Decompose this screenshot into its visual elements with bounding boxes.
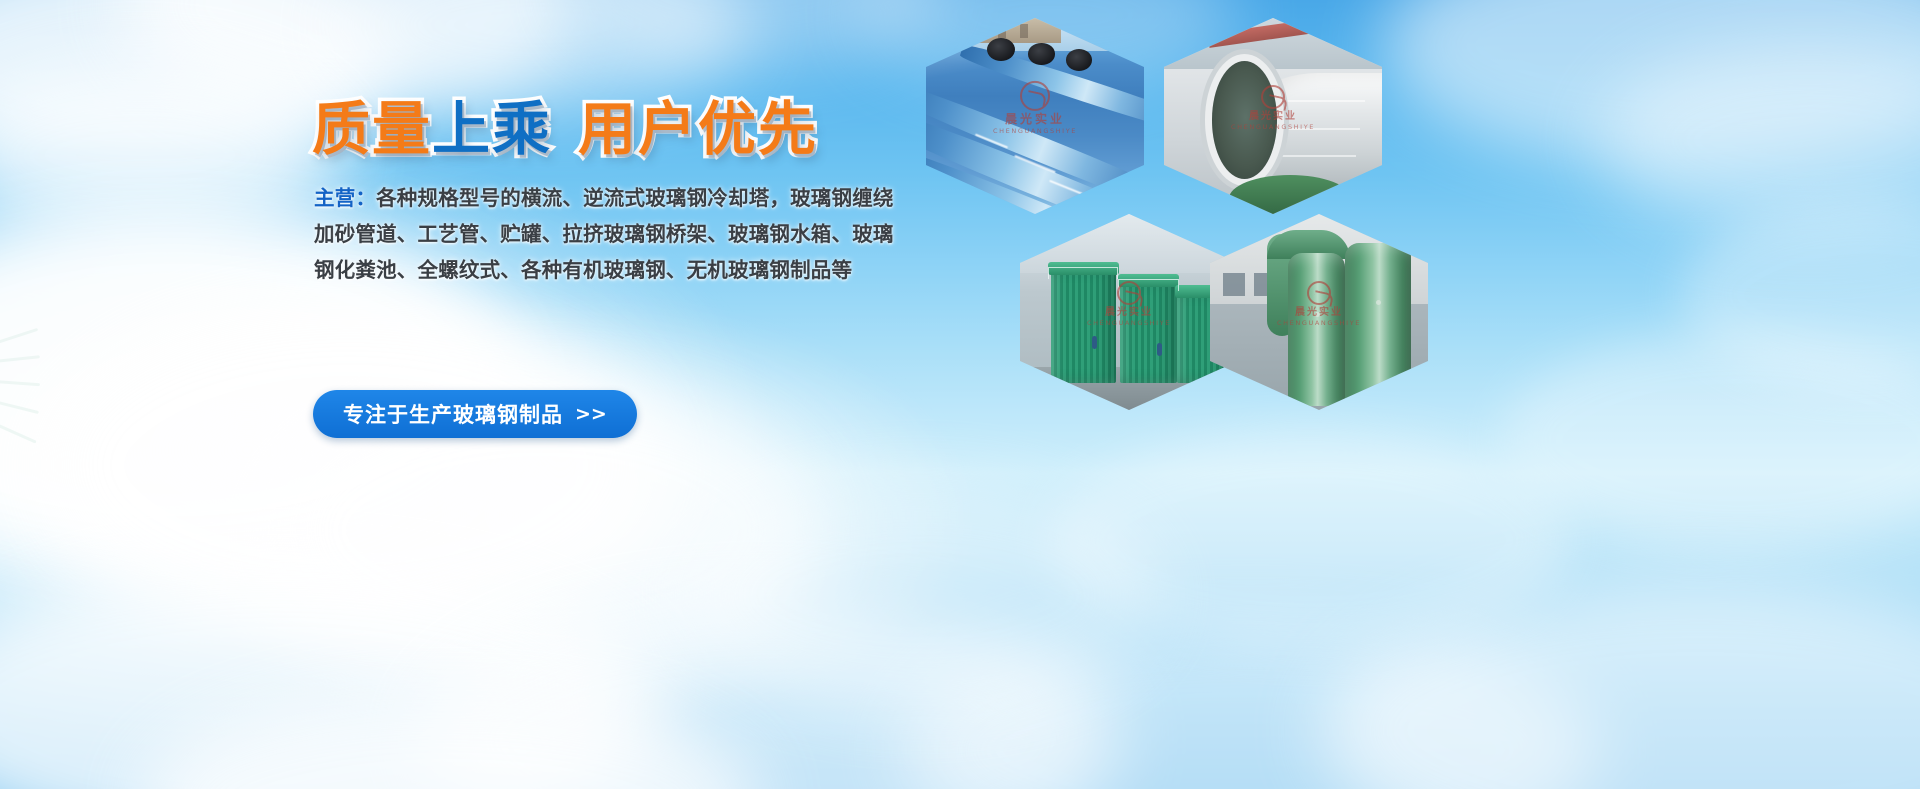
headline-part-3: 用户优先 bbox=[578, 95, 818, 163]
product-photo-cooling-towers[interactable]: 晨光实业 CHENGUANGSHIYE bbox=[1020, 214, 1238, 410]
product-photo-blue-pipes[interactable]: 晨光实业 CHENGUANGSHIYE bbox=[926, 18, 1144, 214]
cta-button[interactable]: 专注于生产玻璃钢制品 >> bbox=[313, 390, 637, 438]
headline-part-2: 上乘 bbox=[432, 95, 552, 163]
banner-description: 主营：各种规格型号的横流、逆流式玻璃钢冷却塔，玻璃钢缠绕加砂管道、工艺管、贮罐、… bbox=[314, 180, 914, 288]
hero-banner: 质量上乘用户优先 主营：各种规格型号的横流、逆流式玻璃钢冷却塔，玻璃钢缠绕加砂管… bbox=[0, 0, 1920, 789]
product-photo-wound-pipes[interactable]: 晨光实业 CHENGUANGSHIYE bbox=[1164, 18, 1382, 214]
banner-headline: 质量上乘用户优先 bbox=[312, 98, 818, 161]
description-line-3: 粪池、全螺纹式、各种有机玻璃钢、无机玻璃钢制品等 bbox=[355, 258, 852, 282]
product-photo-cluster: 晨光实业 CHENGUANGSHIYE 晨光实业 CHENGUANGSHIYE bbox=[900, 0, 1920, 789]
product-photo-scrubber-towers[interactable]: 晨光实业 CHENGUANGSHIYE bbox=[1210, 214, 1428, 410]
headline-part-1: 质量 bbox=[312, 95, 432, 163]
banner-copy: 质量上乘用户优先 主营：各种规格型号的横流、逆流式玻璃钢冷却塔，玻璃钢缠绕加砂管… bbox=[0, 0, 940, 789]
description-label: 主营： bbox=[314, 186, 376, 210]
chevron-right-icon: >> bbox=[575, 403, 607, 425]
cta-label: 专注于生产玻璃钢制品 bbox=[343, 399, 563, 429]
